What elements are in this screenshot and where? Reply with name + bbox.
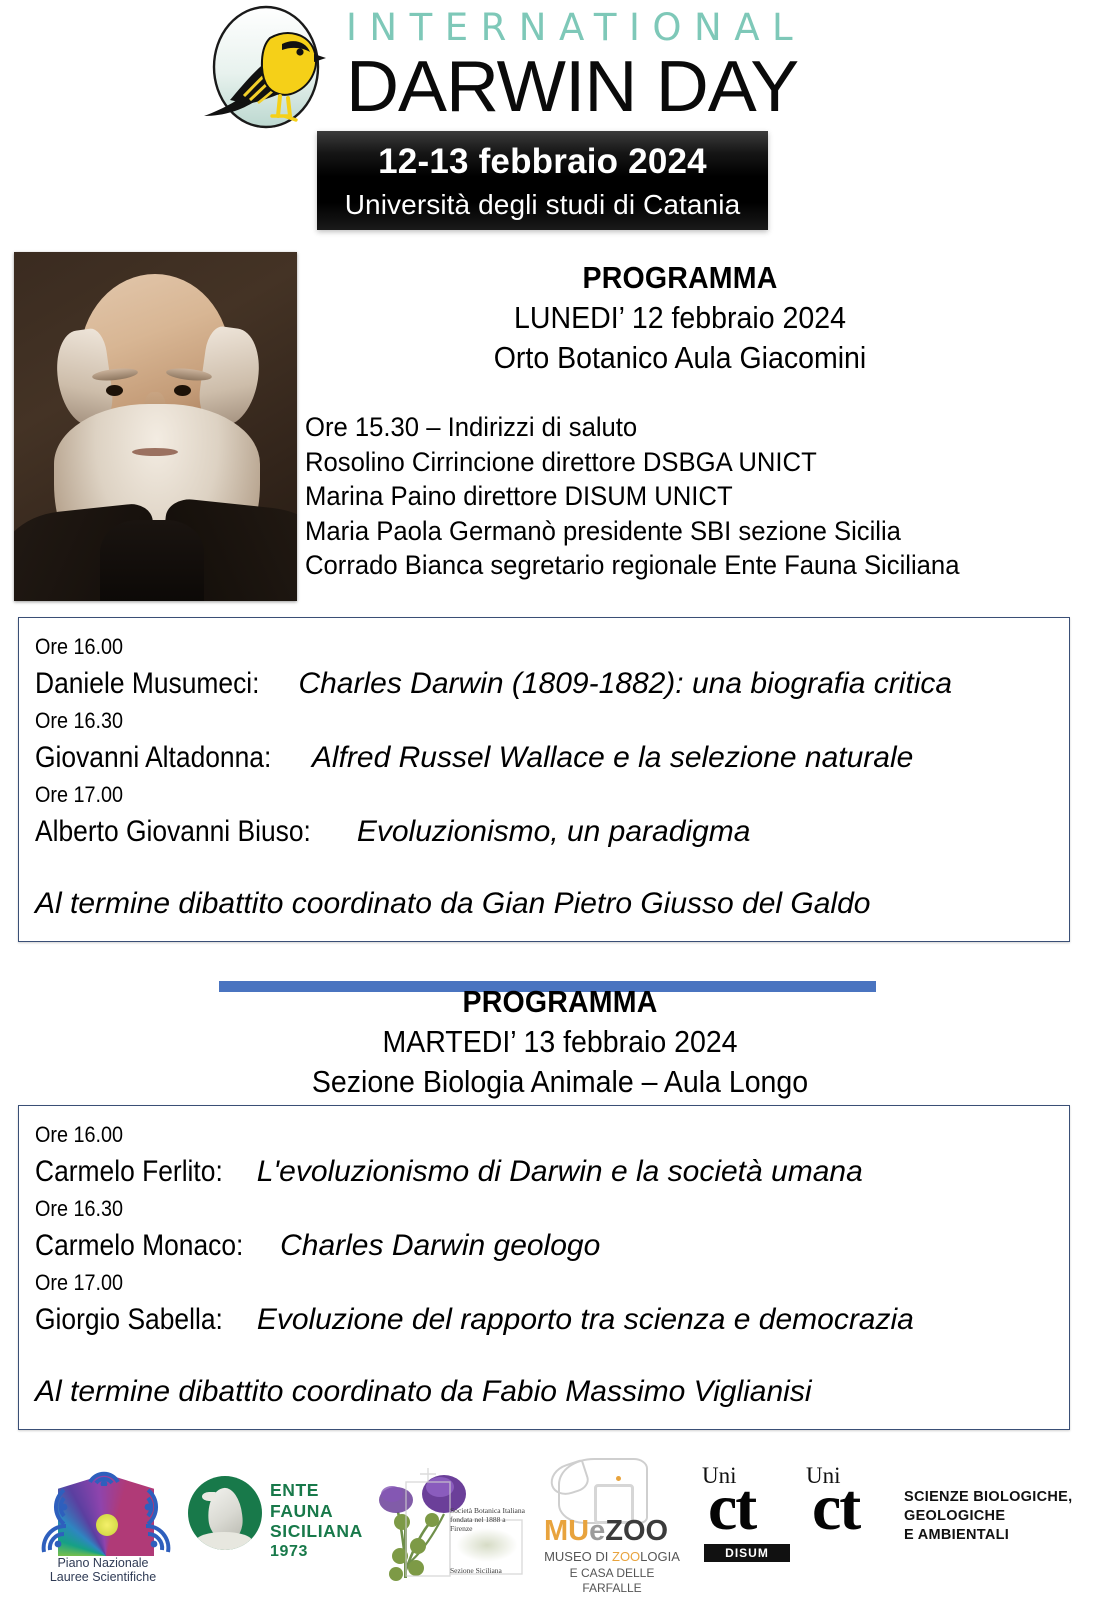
portrait-eye-left <box>106 385 123 396</box>
muzoo-sub2-b: FARFALLE <box>582 1581 641 1595</box>
international-darwin-day-logo: INTERNATIONAL DARWIN DAY <box>196 4 856 130</box>
vulture-circle-icon <box>188 1476 262 1550</box>
day1-closing-note: Al termine dibattito coordinato da Gian … <box>35 884 1069 924</box>
talk-time: Ore 16.00 <box>35 632 966 662</box>
unict-disum-logo: Uni ct DISUM <box>694 1462 814 1572</box>
greeting-line: Rosolino Cirrincione direttore DSBGA UNI… <box>305 445 1027 480</box>
greeting-line: Marina Paino direttore DISUM UNICT <box>305 479 1027 514</box>
day1-date: LUNEDI’ 12 febbraio 2024 <box>330 298 1029 338</box>
talk-speaker: Giovanni Altadonna: <box>35 736 271 780</box>
day2-closing-note: Al termine dibattito coordinato da Fabio… <box>35 1372 1069 1412</box>
efs-year: 1973 <box>270 1542 363 1563</box>
muzoo-sub-museo: MUSEO <box>544 1549 592 1564</box>
disum-ct-text: ct <box>708 1476 755 1540</box>
sbi-line3: Sezione Siciliana <box>450 1566 528 1575</box>
sbi-watermark <box>456 1528 518 1562</box>
bird-icon <box>196 4 336 130</box>
talk-speaker: Carmelo Ferlito: <box>35 1150 223 1194</box>
muzoo-logo: MUeZOO MUSEO DI ZOOLOGIA E CASA DELLE FA… <box>540 1454 680 1588</box>
portrait-mouth <box>132 448 178 456</box>
greeting-line: Maria Paola Germanò presidente SBI sezio… <box>305 514 1027 549</box>
vulture-rock-icon <box>196 1532 252 1550</box>
day2-header: PROGRAMMA MARTEDI’ 13 febbraio 2024 Sezi… <box>180 982 940 1102</box>
muzoo-sub2-a: E CASA DELLE <box>570 1566 655 1580</box>
event-venue: Università degli studi di Catania <box>317 187 768 223</box>
talk-speaker: Giorgio Sabella: <box>35 1298 223 1342</box>
talk-time: Ore 16.30 <box>35 1194 966 1224</box>
vulture-head-icon <box>202 1492 216 1501</box>
sbga-line2: GEOLOGICHE <box>904 1507 1072 1526</box>
talk-row: Alberto Giovanni Biuso: Evoluzionismo, u… <box>35 810 1069 854</box>
day1-programma-title: PROGRAMMA <box>330 258 1029 298</box>
portrait-eye-right <box>174 385 191 396</box>
sbi-line1: Società Botanica Italiana <box>450 1506 528 1515</box>
sbi-caption: Società Botanica Italiana fondata nel 18… <box>450 1506 528 1533</box>
date-banner: 12-13 febbraio 2024 Università degli stu… <box>317 131 768 230</box>
talk-title: Charles Darwin (1809-1882): una biografi… <box>298 667 952 700</box>
muzoo-subtitle: MUSEO DI ZOOLOGIA <box>542 1548 682 1565</box>
day2-programma-title: PROGRAMMA <box>210 982 909 1022</box>
disum-dept-badge: DISUM <box>704 1544 790 1562</box>
talk-row: Carmelo Ferlito: L'evoluzionismo di Darw… <box>35 1150 1069 1194</box>
sbga-ct-text: ct <box>812 1476 859 1540</box>
greeting-line: Corrado Bianca segretario regionale Ente… <box>305 548 1027 583</box>
greeting-line: Ore 15.30 – Indirizzi di saluto <box>305 410 1027 445</box>
wifi-wave-top-icon <box>80 1456 128 1486</box>
sbi-line2: fondata nel 1888 a Firenze <box>450 1515 528 1533</box>
muzoo-sub-zoo: ZOO <box>612 1549 640 1564</box>
talk-time: Ore 17.00 <box>35 1268 966 1298</box>
fan-core-icon <box>96 1514 118 1536</box>
muzoo-wordmark: MUeZOO <box>544 1516 680 1546</box>
logo-international-text: INTERNATIONAL <box>346 6 866 50</box>
sbga-department-text: SCIENZE BIOLOGICHE, GEOLOGICHE E AMBIENT… <box>904 1488 1072 1545</box>
talk-row: Carmelo Monaco: Charles Darwin geologo <box>35 1224 1069 1268</box>
day1-program-box: Ore 16.00 Daniele Musumeci: Charles Darw… <box>18 617 1070 942</box>
talk-speaker: Alberto Giovanni Biuso: <box>35 810 311 854</box>
talk-speaker: Daniele Musumeci: <box>35 662 259 706</box>
day2-venue: Sezione Biologia Animale – Aula Longo <box>210 1062 909 1102</box>
talk-title: Evoluzione del rapporto tra scienza e de… <box>257 1303 914 1336</box>
talk-time: Ore 16.30 <box>35 706 966 736</box>
muzoo-mu-text: MU <box>544 1515 589 1547</box>
pnls-caption: Piano Nazionale Lauree Scientifiche <box>28 1556 178 1584</box>
pnls-caption-line1: Piano Nazionale <box>28 1556 178 1570</box>
wifi-wave-bottomleft-icon <box>36 1522 72 1558</box>
charles-darwin-portrait <box>14 252 297 601</box>
muzoo-e-text: e <box>589 1515 605 1547</box>
sponsor-logo-strip: Piano Nazionale Lauree Scientifiche ENTE… <box>0 1440 1107 1600</box>
talk-speaker: Carmelo Monaco: <box>35 1224 243 1268</box>
talk-title: Evoluzionismo, un paradigma <box>357 815 751 848</box>
talk-row: Giorgio Sabella: Evoluzione del rapporto… <box>35 1298 1069 1342</box>
efs-line1: ENTE FAUNA <box>270 1480 363 1521</box>
talk-row: Giovanni Altadonna: Alfred Russel Wallac… <box>35 736 1069 780</box>
unict-scienze-logo: Uni ct SCIENZE BIOLOGICHE, GEOLOGICHE E … <box>800 1462 1090 1572</box>
day1-greetings-list: Ore 15.30 – Indirizzi di saluto Rosolino… <box>305 410 1027 583</box>
efs-line2: SICILIANA <box>270 1521 363 1542</box>
logo-darwin-day-text: DARWIN DAY <box>346 50 876 124</box>
event-dates: 12-13 febbraio 2024 <box>317 131 768 187</box>
talk-row: Daniele Musumeci: Charles Darwin (1809-1… <box>35 662 1069 706</box>
talk-title: Alfred Russel Wallace e la selezione nat… <box>312 741 913 774</box>
talk-title: L'evoluzionismo di Darwin e la società u… <box>257 1155 863 1188</box>
day2-date: MARTEDI’ 13 febbraio 2024 <box>210 1022 909 1062</box>
talk-title: Charles Darwin geologo <box>280 1229 600 1262</box>
day1-venue: Orto Botanico Aula Giacomini <box>330 338 1029 378</box>
talk-time: Ore 16.00 <box>35 1120 966 1150</box>
sbga-line1: SCIENZE BIOLOGICHE, <box>904 1488 1072 1507</box>
poster-root: INTERNATIONAL DARWIN DAY 12-13 febbraio … <box>0 0 1107 1600</box>
piano-nazionale-lauree-scientifiche-logo: Piano Nazionale Lauree Scientifiche <box>28 1456 178 1586</box>
muzoo-zoo-text: ZOO <box>605 1515 668 1547</box>
ente-fauna-siciliana-logo: ENTE FAUNA SICILIANA 1973 <box>188 1470 363 1570</box>
day2-program-box: Ore 16.00 Carmelo Ferlito: L'evoluzionis… <box>18 1105 1070 1430</box>
pnls-caption-line2: Lauree Scientifiche <box>28 1570 178 1584</box>
day1-header: PROGRAMMA LUNEDI’ 12 febbraio 2024 Orto … <box>300 258 1060 378</box>
sbi-subcaption: Sezione Siciliana <box>450 1566 528 1575</box>
muzoo-sub-logia: LOGIA <box>640 1549 680 1564</box>
animal-eye-icon <box>616 1476 621 1481</box>
wifi-wave-bottomright-icon <box>140 1522 176 1558</box>
societa-botanica-italiana-logo: Società Botanica Italiana fondata nel 18… <box>378 1454 528 1586</box>
ente-fauna-text: ENTE FAUNA SICILIANA 1973 <box>270 1480 363 1562</box>
poster-header: INTERNATIONAL DARWIN DAY <box>0 0 1107 132</box>
talk-time: Ore 17.00 <box>35 780 966 810</box>
muzoo-subtitle2: E CASA DELLE FARFALLE <box>542 1566 682 1596</box>
muzoo-sub-di: DI <box>595 1549 608 1564</box>
sbga-line3: E AMBIENTALI <box>904 1526 1072 1545</box>
darwin-day-wordmark: INTERNATIONAL DARWIN DAY <box>346 6 866 130</box>
portrait-collar <box>100 520 204 601</box>
